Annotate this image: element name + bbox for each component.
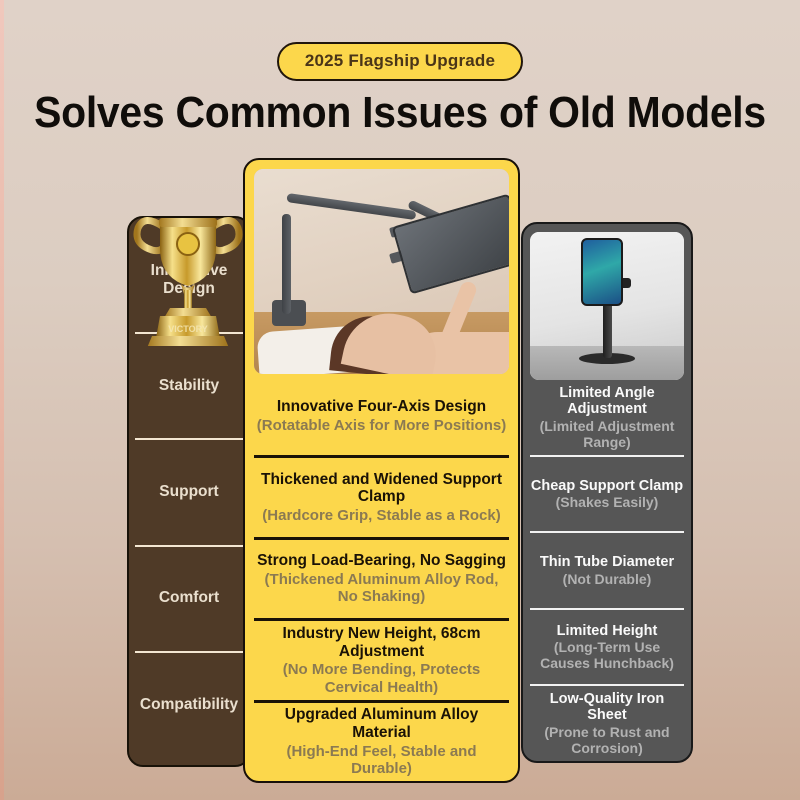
new-product-feature-list: Innovative Four-Axis Design (Rotatable A… [254, 374, 509, 781]
feature-title: Upgraded Aluminum Alloy Material [254, 706, 509, 741]
feature-row: Strong Load-Bearing, No Sagging (Thicken… [254, 540, 509, 621]
left-edge-accent [0, 0, 4, 800]
feature-sub: (Hardcore Grip, Stable as a Rock) [262, 507, 500, 524]
issue-title: Thin Tube Diameter [540, 554, 674, 571]
feature-title: Industry New Height, 68cm Adjustment [254, 625, 509, 660]
feature-row: Thickened and Widened Support Clamp (Har… [254, 458, 509, 539]
issue-sub: (Prone to Rust and Corrosion) [530, 724, 684, 756]
feature-sub: (No More Bending, Protects Cervical Heal… [254, 661, 509, 696]
new-product-photo [254, 169, 509, 374]
mount-vertical-post [282, 214, 291, 314]
flagship-upgrade-badge: 2025 Flagship Upgrade [277, 42, 523, 81]
issue-title: Limited Angle Adjustment [530, 385, 684, 418]
feature-sub: (Thickened Aluminum Alloy Rod, No Shakin… [254, 571, 509, 606]
mount-arm-segment-1 [286, 193, 416, 220]
feature-sub: (High-End Feel, Stable and Durable) [254, 743, 509, 778]
mounted-phone [581, 238, 623, 306]
feature-row: Industry New Height, 68cm Adjustment (No… [254, 621, 509, 702]
issue-sub: (Not Durable) [563, 571, 652, 587]
issue-row: Thin Tube Diameter (Not Durable) [530, 533, 684, 610]
issue-title: Limited Height [557, 623, 658, 640]
feature-row: Innovative Four-Axis Design (Rotatable A… [254, 377, 509, 458]
feature-row: Upgraded Aluminum Alloy Material (High-E… [254, 703, 509, 781]
category-comfort: Comfort [135, 547, 243, 653]
feature-title: Innovative Four-Axis Design [277, 398, 486, 416]
issue-row: Limited Height (Long-Term Use Causes Hun… [530, 610, 684, 687]
trophy-plate-text: VICTORY [168, 324, 208, 334]
trophy-icon: VICTORY [126, 186, 250, 346]
issue-sub: (Shakes Easily) [556, 494, 659, 510]
issue-title: Low-Quality Iron Sheet [530, 691, 684, 724]
badge-container: 2025 Flagship Upgrade [0, 42, 800, 81]
feature-title: Strong Load-Bearing, No Sagging [257, 552, 506, 570]
issue-sub: (Long-Term Use Causes Hunchback) [530, 639, 684, 671]
issue-sub: (Limited Adjustment Range) [530, 418, 684, 450]
bedroom-scene [254, 169, 509, 374]
issue-row: Cheap Support Clamp (Shakes Easily) [530, 457, 684, 534]
issue-title: Cheap Support Clamp [531, 478, 683, 495]
issue-row: Limited Angle Adjustment (Limited Adjust… [530, 380, 684, 457]
category-stability: Stability [135, 334, 243, 440]
desk-scene [530, 232, 684, 380]
page-title: Solves Common Issues of Old Models [28, 88, 772, 138]
category-support: Support [135, 440, 243, 546]
feature-title: Thickened and Widened Support Clamp [254, 471, 509, 506]
feature-sub: (Rotatable Axis for More Positions) [257, 417, 506, 434]
category-compatibility: Compatibility [135, 653, 243, 757]
old-product-photo [530, 232, 684, 380]
new-product-card: Innovative Four-Axis Design (Rotatable A… [243, 158, 520, 783]
old-product-card: Limited Angle Adjustment (Limited Adjust… [521, 222, 693, 763]
old-product-issue-list: Limited Angle Adjustment (Limited Adjust… [530, 380, 684, 761]
issue-row: Low-Quality Iron Sheet (Prone to Rust an… [530, 686, 684, 761]
